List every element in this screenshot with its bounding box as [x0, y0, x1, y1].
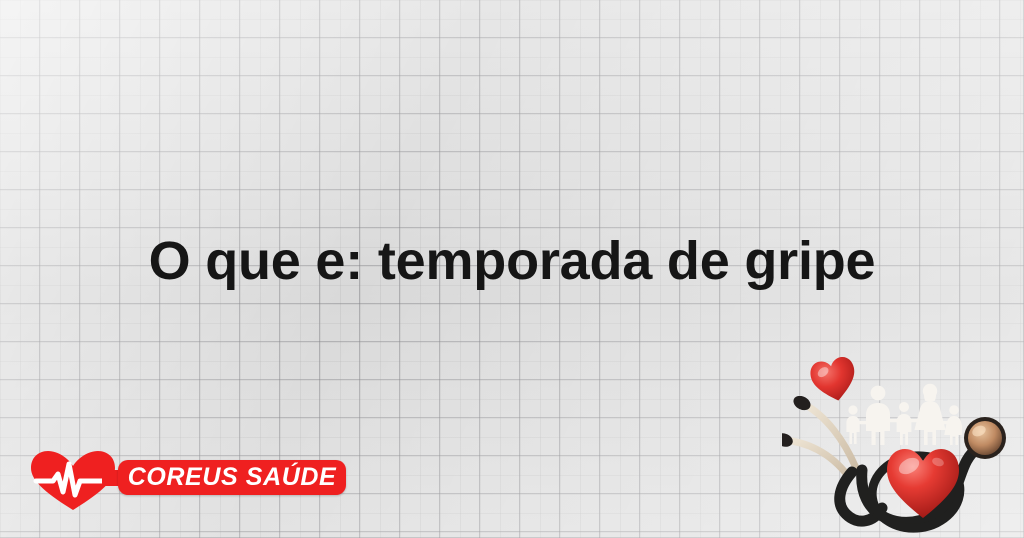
page-title: O que e: temporada de gripe: [0, 232, 1024, 291]
brand-name-badge: COREUS SAÚDE: [118, 460, 346, 495]
slide-canvas: O que e: temporada de gripe COREUS SAÚDE: [0, 0, 1024, 538]
brand-logo[interactable]: COREUS SAÚDE: [30, 448, 350, 514]
big-red-heart-icon: [884, 446, 962, 520]
health-family-stethoscope-illustration: [784, 344, 1024, 538]
brand-name-label: COREUS SAÚDE: [118, 460, 346, 495]
